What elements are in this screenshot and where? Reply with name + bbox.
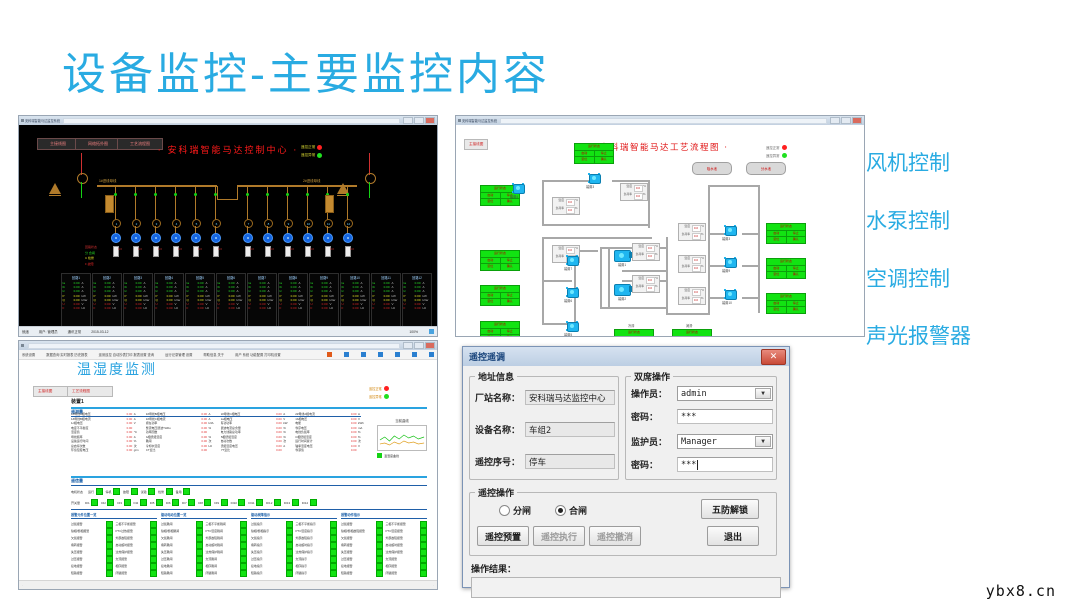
- measurement-name: C相绕组温度: [295, 435, 343, 439]
- measurement-unit: 次: [283, 439, 292, 443]
- sld-btn-process[interactable]: 工艺流程图: [117, 138, 163, 150]
- measurement-unit: g/m: [134, 448, 143, 452]
- close-icon[interactable]: [425, 342, 435, 349]
- flow-motor[interactable]: [566, 321, 578, 331]
- flow-value-box: 温度0.0°C负荷率0.0%: [632, 275, 660, 293]
- motor-status-item: 试验: [141, 488, 156, 495]
- menu-item-config[interactable]: 用户 系统 功能配置 打印机设置: [235, 352, 281, 357]
- led-icon: [106, 556, 113, 563]
- measurement-row: CT变比0.00: [146, 448, 218, 452]
- switch-status-row: 开关量DI1DI2DI3DI4DI5DI6DI7DI8DI9DI10DI11DI…: [71, 499, 317, 506]
- led-icon: [330, 549, 337, 556]
- led-icon: [256, 499, 263, 506]
- alarm-item: 过载报警: [71, 521, 113, 528]
- sld-cell-row: F0.00Hz: [187, 306, 214, 310]
- supervisor-password-field[interactable]: ***: [677, 457, 773, 472]
- flow-bottom-label: 润滑: [686, 323, 692, 328]
- led-icon: [131, 488, 138, 495]
- measurement-row: 有功功率0.00kW: [221, 421, 293, 425]
- measurement-unit: mA: [358, 426, 367, 430]
- flow-pump[interactable]: [614, 283, 634, 295]
- measurement-name: A相绕组温度: [146, 435, 194, 439]
- alarm-item: 欠载指示: [251, 535, 293, 542]
- window-buttons[interactable]: [403, 342, 435, 349]
- alarm-item: 缺相/断相指示: [251, 528, 293, 535]
- sld-btn-topology[interactable]: 网络拓扑图: [75, 138, 121, 150]
- group-control-legend: 遥控操作: [475, 486, 517, 499]
- measurement-row: 电线负载率0.00%: [295, 430, 367, 434]
- operator-select[interactable]: admin ▼: [677, 386, 773, 401]
- sld-cell[interactable]: 回路4Ia0.00AIb0.00AIc0.00AP0.00kWQ0.00kVar…: [154, 273, 184, 331]
- sld-bus-label-2: 2#进线母线: [303, 178, 320, 183]
- flow-control-box[interactable]: 运行状态启动停止复位确认: [766, 293, 806, 314]
- sld-cell[interactable]: 回路1Ia0.00AIb0.00AIc0.00AP0.00kWQ0.00kVar…: [61, 273, 91, 331]
- flow-control-box[interactable]: 运行状态启动停止复位确认: [614, 329, 654, 336]
- alarm-item: 堵转跳闸: [161, 542, 203, 549]
- switch-status-item: DI7: [182, 499, 195, 506]
- measurement-row: 温度值0.00°C: [71, 430, 143, 434]
- right-label-fan-control: 风机控制: [866, 147, 950, 177]
- led-icon: [330, 528, 337, 535]
- measurement-unit: %: [209, 435, 218, 439]
- window-icon: [21, 119, 24, 122]
- close-icon[interactable]: ✕: [761, 349, 786, 365]
- monitor-statusbar: · ·: [19, 580, 437, 589]
- alarm-item: 外部故障报警: [116, 535, 158, 542]
- led-icon: [140, 499, 147, 506]
- measurement-unit: %: [283, 426, 292, 430]
- flow-control-row[interactable]: 复位确认: [767, 272, 805, 278]
- alarm-item: 欠载跳闸: [161, 535, 203, 542]
- sld-btn-main[interactable]: 主接线图: [37, 138, 79, 150]
- switch-status-label: 开关量: [71, 501, 80, 505]
- maximize-icon[interactable]: [841, 117, 851, 124]
- led-icon: [286, 528, 293, 535]
- flow-control-header: 运行状态: [673, 330, 711, 336]
- flow-pump-label: 装置1: [618, 262, 626, 267]
- sld-legend-0: 遥控正常: [301, 145, 322, 150]
- flow-btn-main-diagram[interactable]: 主接线图: [464, 139, 488, 150]
- watermark: ybx8.cn: [986, 582, 1056, 600]
- flow-control-row[interactable]: 复位确认: [767, 237, 805, 243]
- dialog-titlebar[interactable]: 遥控遥调 ✕: [463, 347, 789, 367]
- alarm-item: 外部故障跳闸: [206, 535, 248, 542]
- monitor-device-name: 装置1: [71, 398, 84, 405]
- flow-control-row[interactable]: 复位确认: [575, 157, 613, 163]
- minimize-icon[interactable]: [403, 117, 413, 124]
- close-icon[interactable]: [852, 117, 862, 124]
- alarm-item: 过压指示: [251, 556, 293, 563]
- toolbar-icon-refresh[interactable]: [378, 352, 383, 357]
- alarm-item: 欠流指示: [296, 556, 338, 563]
- flow-motor[interactable]: [724, 225, 736, 235]
- led-icon: [240, 528, 247, 535]
- led-icon: [196, 556, 203, 563]
- flow-motor[interactable]: [566, 255, 578, 265]
- sld-cell-header: 回路12: [412, 275, 422, 280]
- trend-legend: 温湿度曲线: [377, 453, 427, 458]
- sequence-field[interactable]: 停车: [525, 454, 615, 469]
- measurement-value: 0.00: [270, 426, 282, 430]
- switch-status-item: DI2: [101, 499, 114, 506]
- switch-status-item: DI4: [134, 499, 147, 506]
- motor-status-row: 电机状态运行停机故障试验检修备用: [71, 488, 190, 495]
- group-address-legend: 地址信息: [475, 370, 517, 383]
- unlock-button[interactable]: 五防解锁: [701, 499, 759, 519]
- alarm-item: 三相不平衡报警: [386, 521, 428, 528]
- alarm-item: 闭锁报警: [386, 570, 428, 577]
- measurement-row: 功率因数0.00: [146, 430, 218, 434]
- flow-motor[interactable]: [724, 289, 736, 299]
- flow-control-row[interactable]: 复位确认: [767, 307, 805, 313]
- led-icon: [330, 542, 337, 549]
- sld-cell[interactable]: 回路3Ia0.00AIb0.00AIc0.00AP0.00kWQ0.00kVar…: [123, 273, 153, 331]
- alarm-item: 欠载报警: [341, 535, 383, 542]
- alarm-item: 过载跳闸: [161, 521, 203, 528]
- led-icon: [238, 499, 245, 506]
- alarm-item: 短路跳闸: [161, 570, 203, 577]
- result-label: 操作结果：: [471, 562, 516, 575]
- sld-cell[interactable]: 回路7Ia0.00AIb0.00AIc0.00AP0.00kWQ0.00kVar…: [247, 273, 277, 331]
- flow-control-box[interactable]: 运行状态启动停止复位确认: [766, 258, 806, 279]
- measurement-name: 总启停次数: [71, 444, 119, 448]
- measurement-value: 0.00: [345, 430, 357, 434]
- alarm-item: 相序跳闸: [206, 563, 248, 570]
- alarm-item: 接地报警: [341, 563, 383, 570]
- minimize-icon[interactable]: [830, 117, 840, 124]
- switch-status-item: DI10: [231, 499, 246, 506]
- flow-tank-suction[interactable]: 吸水池: [692, 162, 732, 175]
- trend-title: 当前曲线: [377, 418, 427, 423]
- toolbar-icon-help[interactable]: [429, 352, 434, 357]
- flow-motor[interactable]: [588, 173, 600, 183]
- led-icon: [196, 549, 203, 556]
- sld-cell-header: 回路6: [227, 275, 235, 280]
- section-header-digital: 遥信量: [71, 478, 83, 484]
- led-icon: [150, 528, 157, 535]
- alarm-item: 过热保护报警: [116, 549, 158, 556]
- flow-legend-0: 遥控正常: [766, 145, 787, 150]
- led-icon: [240, 542, 247, 549]
- measurement-row: 电能0.00kWh: [295, 421, 367, 425]
- window-buttons[interactable]: [403, 117, 435, 124]
- menu-item-telemetry[interactable]: 遥测遥控 自动抄表打印 报表设置 查询: [99, 352, 155, 357]
- measurement-name: CT变比: [146, 448, 194, 452]
- led-icon: [240, 570, 247, 577]
- sld-cell-header: 回路11: [381, 275, 391, 280]
- flow-control-box[interactable]: 运行状态启动停止复位确认: [672, 329, 712, 336]
- sld-cell-row: F0.00Hz: [156, 306, 183, 310]
- titlebar-filler: [63, 118, 400, 124]
- measurement-value: 0.00: [120, 444, 132, 448]
- toolbar-icon-prev[interactable]: [344, 352, 349, 357]
- alarm-item: PTC温度跳闸: [206, 528, 248, 535]
- measurement-unit: 次: [358, 439, 367, 443]
- dialog-body: 地址信息 厂站名称： 安科瑞马达监控中心 设备名称： 车组2 遥控序号： 停车 …: [463, 366, 789, 587]
- measurement-unit: A: [283, 444, 292, 448]
- measurement-name: 电度不平衡度: [71, 426, 119, 430]
- device-field[interactable]: 车组2: [525, 422, 615, 437]
- flow-value-box: 温度0.0°C负荷率0.0%: [552, 197, 580, 215]
- menu-item-system[interactable]: 系统设置: [22, 352, 35, 357]
- sld-cell[interactable]: 回路6Ia0.00AIb0.00AIc0.00AP0.00kWQ0.00kVar…: [216, 273, 246, 331]
- led-icon: [196, 535, 203, 542]
- sld-cell[interactable]: 回路10Ia0.00AIb0.00AIc0.00AP0.00kWQ0.00kVa…: [340, 273, 370, 331]
- alarm-item: 堵转报警: [341, 542, 383, 549]
- sequence-label: 遥控序号：: [475, 455, 525, 468]
- toolbar-icon-next[interactable]: [361, 352, 366, 357]
- alarm-item: 相序指示: [296, 563, 338, 570]
- motor-status-item: 停机: [106, 488, 121, 495]
- flow-control-box[interactable]: 运行状态启动停止复位确认: [574, 143, 614, 164]
- measurement-name: 整流电压谐波THDu: [146, 426, 194, 430]
- measurement-unit: A: [283, 412, 292, 416]
- alarm-item: 外部故障报警: [386, 535, 428, 542]
- measurement-name: 电能: [295, 421, 343, 425]
- led-icon: [376, 563, 383, 570]
- led-icon: [420, 535, 427, 542]
- flow-motor-label: 装置6: [564, 298, 572, 303]
- flow-control-box[interactable]: 运行状态启动停止复位确认: [766, 223, 806, 244]
- exit-button[interactable]: 退出: [707, 526, 759, 546]
- flow-motor-label: 装置3: [586, 184, 594, 189]
- led-icon: [166, 488, 173, 495]
- window-buttons[interactable]: [830, 117, 862, 124]
- radio-open-dot[interactable]: [499, 505, 510, 516]
- flow-window-title: 安科瑞智能马达监控系统: [462, 118, 497, 123]
- measurement-value: 0.00: [270, 417, 282, 421]
- measurement-unit: 次: [134, 444, 143, 448]
- measurement-row: C相绕组温度0.00%: [295, 435, 367, 439]
- flow-control-box[interactable]: 运行状态启动停止复位确认: [480, 321, 520, 336]
- measurement-name: 零序电压: [295, 426, 343, 430]
- menu-item-help[interactable]: 帮助信息 关于: [203, 352, 224, 357]
- sld-cell[interactable]: 回路12Ia0.00AIb0.00AIc0.00AP0.00kWQ0.00kVa…: [402, 273, 432, 331]
- measurement-unit: %: [134, 439, 143, 443]
- measurement-name: 功率因数: [146, 430, 194, 434]
- measurement-name: 谐波电流总含量: [221, 426, 269, 430]
- maximize-icon[interactable]: [414, 117, 424, 124]
- measurement-name: 1c相电压: [71, 421, 119, 425]
- menu-item-query[interactable]: 数据查询 实时报表 历史报表: [46, 352, 87, 357]
- flow-motor[interactable]: [512, 183, 524, 193]
- minimize-icon[interactable]: [403, 342, 413, 349]
- alarm-item: 失压报警: [71, 549, 113, 556]
- operator-password-field[interactable]: ***: [677, 409, 773, 424]
- led-icon: [150, 542, 157, 549]
- chevron-down-icon[interactable]: ▼: [755, 388, 771, 399]
- flow-control-box[interactable]: 运行状态启动停止复位确认: [480, 250, 520, 271]
- sld-cell[interactable]: 回路2Ia0.00AIb0.00AIc0.00AP0.00kWQ0.00kVar…: [92, 273, 122, 331]
- supervisor-select[interactable]: Manager ▼: [677, 434, 773, 449]
- measurement-row: 环境湿度电压0.00g/m: [71, 448, 143, 452]
- radio-close[interactable]: 合闸: [555, 504, 587, 517]
- alarm-item: 过热保护跳闸: [206, 549, 248, 556]
- led-icon: [420, 563, 427, 570]
- measurement-name: 1#母线B相电流: [71, 417, 119, 421]
- radio-close-dot[interactable]: [555, 505, 566, 516]
- led-icon: [376, 528, 383, 535]
- measurement-value: 0.00: [270, 430, 282, 434]
- alarm-column-header: 驱动故障指示: [251, 512, 337, 519]
- led-icon: [292, 499, 299, 506]
- led-icon: [376, 556, 383, 563]
- measurement-name: 1#母线C相电压: [221, 412, 269, 416]
- measurement-row: 启动次数0.00次: [221, 439, 293, 443]
- preset-button[interactable]: 遥控预置: [477, 526, 529, 546]
- led-icon: [420, 556, 427, 563]
- led-icon: [420, 542, 427, 549]
- measurement-name: 温度值: [71, 430, 119, 434]
- sld-cell-row: F0.00Hz: [94, 306, 121, 310]
- cancel-button[interactable]: 遥控撤消: [589, 526, 641, 546]
- toolbar-icon-settings[interactable]: [412, 352, 417, 357]
- supervisor-password-label: 密码：: [631, 458, 677, 471]
- led-icon: [106, 570, 113, 577]
- monitor-title: 温湿度监测: [77, 359, 157, 379]
- measurement-row: 电力线路总功率0.00%: [221, 430, 293, 434]
- measurement-unit: 次: [209, 439, 218, 443]
- flow-control-box[interactable]: 运行状态启动停止复位确认: [480, 285, 520, 306]
- measurement-row: 1c相电压0.00V: [71, 421, 143, 425]
- led-icon: [196, 521, 203, 528]
- operator-label: 操作员：: [631, 387, 677, 400]
- flow-motor-label: 装置7: [564, 266, 572, 271]
- flow-control-row[interactable]: 复位确认: [481, 335, 519, 336]
- measurement-value: 0.00: [270, 435, 282, 439]
- led-icon: [150, 556, 157, 563]
- led-icon: [196, 563, 203, 570]
- monitor-window: 系统设置 数据查询 实时报表 历史报表 遥测遥控 自动抄表打印 报表设置 查询 …: [18, 340, 438, 590]
- measurement-unit: A: [134, 412, 143, 416]
- alarm-item: 闭锁指示: [296, 570, 338, 577]
- flow-control-row[interactable]: 复位确认: [481, 299, 519, 305]
- monitor-btn-process[interactable]: 工艺流程图: [67, 386, 113, 397]
- measurement-value: 0.00: [195, 417, 207, 421]
- measurement-name: 环境湿度电压: [71, 448, 119, 452]
- alarm-column-header: 报警动作指示: [341, 512, 427, 519]
- led-icon: [330, 535, 337, 542]
- alarm-item: 闭锁跳闸: [206, 570, 248, 577]
- measurement-value: 0.00: [345, 448, 357, 452]
- sld-cell[interactable]: 回路8Ia0.00AIb0.00AIc0.00AP0.00kWQ0.00kVar…: [278, 273, 308, 331]
- led-icon: [106, 542, 113, 549]
- remote-control-dialog: 遥控遥调 ✕ 地址信息 厂站名称： 安科瑞马达监控中心 设备名称： 车组2 遥控…: [462, 346, 790, 588]
- measurement-unit: A: [209, 417, 218, 421]
- flow-control-row[interactable]: 复位确认: [481, 199, 519, 205]
- sld-cell[interactable]: 回路5Ia0.00AIb0.00AIc0.00AP0.00kWQ0.00kVar…: [185, 273, 215, 331]
- measurement-unit: A: [134, 417, 143, 421]
- measurement-unit: A: [358, 412, 367, 416]
- led-icon: [310, 499, 317, 506]
- toolbar-icon-print[interactable]: [395, 352, 400, 357]
- measurement-unit: °C: [134, 430, 143, 434]
- flow-tank-distribution[interactable]: 分水池: [746, 162, 786, 175]
- measurement-name: 视在功率: [146, 421, 194, 425]
- measurement-value: 0.00: [345, 435, 357, 439]
- measurement-name: 绕组温度电压: [221, 444, 269, 448]
- sld-cell-row: F0.00Hz: [342, 306, 369, 310]
- flow-control-row[interactable]: 复位确认: [481, 264, 519, 270]
- switch-status-item: DI1: [85, 499, 98, 506]
- sld-cell-row: F0.00Hz: [373, 306, 400, 310]
- led-icon: [376, 535, 383, 542]
- alarm-item: 启动超时报警: [386, 542, 428, 549]
- station-field[interactable]: 安科瑞马达监控中心: [525, 390, 615, 405]
- led-icon: [106, 549, 113, 556]
- alarm-item: 过热保护报警: [386, 549, 428, 556]
- alarm-item: 相序报警: [116, 563, 158, 570]
- led-icon: [330, 556, 337, 563]
- flow-pump[interactable]: [614, 249, 634, 261]
- radio-open[interactable]: 分闸: [499, 504, 531, 517]
- measurement-name: 冷却水温度: [146, 444, 194, 448]
- flow-motor[interactable]: [724, 257, 736, 267]
- chevron-down-icon[interactable]: ▼: [755, 436, 771, 447]
- flow-value-box: 温度0.0°C负荷率0.0%: [620, 183, 648, 201]
- close-icon[interactable]: [425, 117, 435, 124]
- sld-window-title: 安科瑞智能马达监控系统: [25, 118, 60, 123]
- measurement-name: 运行时间累计: [295, 439, 343, 443]
- switch-status-item: DI5: [150, 499, 163, 506]
- measurement-row: B相绕组温度0.00%: [221, 435, 293, 439]
- led-icon: [150, 570, 157, 577]
- measurement-name: 母线频率: [71, 435, 119, 439]
- alarm-item: 欠流跳闸: [206, 556, 248, 563]
- measurement-value: 0.00: [120, 448, 132, 452]
- menu-item-records[interactable]: 运行记录管理 设置: [165, 352, 192, 357]
- led-icon: [286, 549, 293, 556]
- flow-value-box: 温度0.0°C负荷率0.0%: [678, 223, 706, 241]
- sld-cell[interactable]: 回路9Ia0.00AIb0.00AIc0.00AP0.00kWQ0.00kVar…: [309, 273, 339, 331]
- measurement-value: 0.00: [120, 430, 132, 434]
- measurement-name: PT变比: [221, 448, 269, 452]
- toolbar-icon-export[interactable]: [327, 352, 332, 357]
- measurement-value: 0.00: [270, 444, 282, 448]
- sld-cell-header: 回路10: [350, 275, 360, 280]
- flow-motor[interactable]: [566, 287, 578, 297]
- sld-cell[interactable]: 回路11Ia0.00AIb0.00AIc0.00AP0.00kWQ0.00kVa…: [371, 273, 401, 331]
- execute-button[interactable]: 遥控执行: [533, 526, 585, 546]
- measurement-value: 0.00: [195, 448, 207, 452]
- flow-value-box: 温度0.0°C负荷率0.0%: [678, 255, 706, 273]
- measurement-unit: %: [358, 430, 367, 434]
- measurement-value: 0.00: [345, 439, 357, 443]
- maximize-icon[interactable]: [414, 342, 424, 349]
- switch-status-item: DI3: [117, 499, 130, 506]
- measurement-value: 0.00: [120, 435, 132, 439]
- alarm-item: 失压指示: [251, 549, 293, 556]
- alarm-item: 过压报警: [341, 556, 383, 563]
- flow-control-header: 运行状态: [615, 330, 653, 336]
- trend-plot: [377, 425, 427, 451]
- led-icon: [274, 499, 281, 506]
- measurement-unit: V: [358, 444, 367, 448]
- alarm-item: 过压跳闸: [161, 556, 203, 563]
- measurement-row: 设备运行时间0.00%: [71, 439, 143, 443]
- monitor-legend-1: 遥控异常: [369, 394, 389, 399]
- led-icon: [240, 535, 247, 542]
- led-icon: [106, 521, 113, 528]
- led-icon: [204, 499, 211, 506]
- sld-cell-header: 回路5: [196, 275, 204, 280]
- sld-statusbar: 就绪 用户: 管理员 通讯正常 2015-03-12 100%: [19, 326, 437, 336]
- measurement-unit: V: [283, 417, 292, 421]
- led-icon: [240, 556, 247, 563]
- measurement-row: 运行时间累计0.00次: [295, 439, 367, 443]
- motor-status-label: 电机状态: [71, 490, 83, 494]
- alarm-item: 短路报警: [71, 570, 113, 577]
